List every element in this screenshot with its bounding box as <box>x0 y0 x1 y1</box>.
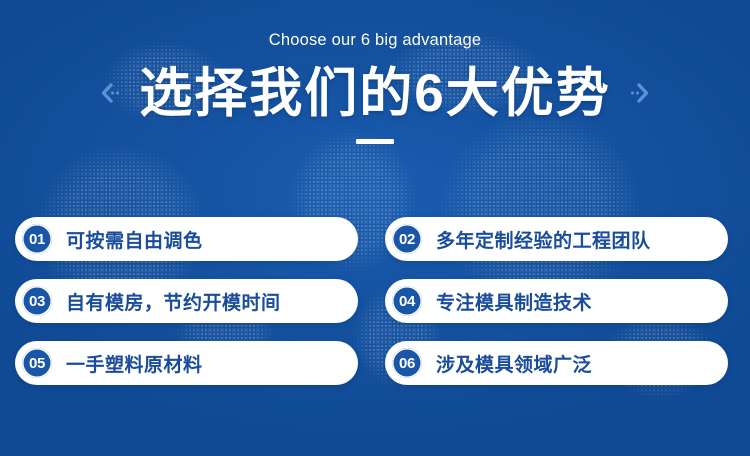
banner-title-row: 选择我们的6大优势 <box>0 65 750 122</box>
advantage-label: 一手塑料原材料 <box>66 350 203 377</box>
advantage-item-05[interactable]: 05 一手塑料原材料 <box>15 341 358 385</box>
advantage-number-badge: 01 <box>22 224 52 254</box>
advantage-number-badge: 06 <box>392 348 422 378</box>
advantage-label: 多年定制经验的工程团队 <box>436 226 651 253</box>
advantage-item-04[interactable]: 04 专注模具制造技术 <box>385 279 728 323</box>
chevron-left-dots-icon <box>95 80 121 106</box>
advantage-number-badge: 04 <box>392 286 422 316</box>
advantage-number-badge: 03 <box>22 286 52 316</box>
advantage-number-badge: 02 <box>392 224 422 254</box>
banner-title: 选择我们的6大优势 <box>139 65 610 122</box>
chevron-right-dots-icon <box>629 80 655 106</box>
advantage-number-badge: 05 <box>22 348 52 378</box>
advantage-item-03[interactable]: 03 自有模房，节约开模时间 <box>15 279 358 323</box>
advantage-item-06[interactable]: 06 涉及模具领域广泛 <box>385 341 728 385</box>
banner-header: Choose our 6 big advantage 选择我们的6大优势 <box>0 0 750 144</box>
advantage-item-02[interactable]: 02 多年定制经验的工程团队 <box>385 217 728 261</box>
advantages-banner: Choose our 6 big advantage 选择我们的6大优势 01 … <box>0 0 750 456</box>
banner-subtitle: Choose our 6 big advantage <box>0 32 750 49</box>
advantage-label: 涉及模具领域广泛 <box>436 350 592 377</box>
advantage-label: 可按需自由调色 <box>66 226 203 253</box>
advantages-grid: 01 可按需自由调色 02 多年定制经验的工程团队 03 自有模房，节约开模时间… <box>15 217 735 385</box>
advantage-label: 自有模房，节约开模时间 <box>66 288 281 315</box>
advantage-label: 专注模具制造技术 <box>436 288 592 315</box>
advantage-item-01[interactable]: 01 可按需自由调色 <box>15 217 358 261</box>
title-divider <box>356 139 394 144</box>
